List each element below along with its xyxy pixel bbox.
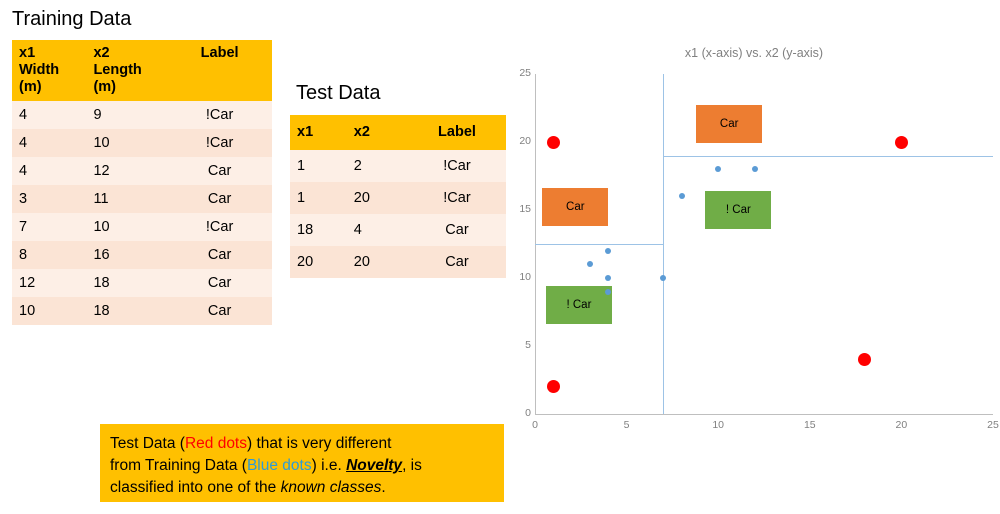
cell-label: !Car xyxy=(408,150,506,182)
test-data-table: x1 x2 Label 1 2 !Car 1 20 !Car 18 4 Car … xyxy=(290,115,506,278)
caption-callout: Test Data (Red dots) that is very differ… xyxy=(100,424,504,502)
cell-x2: 16 xyxy=(86,241,167,269)
training-data-point xyxy=(660,275,666,281)
cell-label: Car xyxy=(167,185,272,213)
training-data-point xyxy=(715,166,721,172)
y-tick-label: 15 xyxy=(513,203,531,215)
table-row: 3 11 Car xyxy=(12,185,272,213)
training-data-point xyxy=(752,166,758,172)
x-tick-label: 15 xyxy=(798,419,822,431)
chart-title: x1 (x-axis) vs. x2 (y-axis) xyxy=(510,46,998,60)
caption-line-3: classified into one of the known classes… xyxy=(110,477,494,499)
class-region-label: Car xyxy=(696,105,762,143)
table-row: 12 18 Car xyxy=(12,269,272,297)
column-header-label: Label xyxy=(167,40,272,101)
table-row: 1 20 !Car xyxy=(290,182,506,214)
column-header-x1: x1 Width (m) xyxy=(12,40,86,101)
cell-x1: 7 xyxy=(12,213,86,241)
caption-text-2c: , is xyxy=(402,457,422,474)
chart-plot-area: 05101520250510152025CarCar! Car! Car xyxy=(535,74,993,414)
class-region-label: Car xyxy=(542,188,608,226)
caption-text-1b: ) that is very different xyxy=(247,435,391,452)
class-region-label: ! Car xyxy=(546,286,612,324)
table-header-row: x1 x2 Label xyxy=(290,115,506,150)
y-tick-label: 10 xyxy=(513,271,531,283)
caption-text-2b: ) i.e. xyxy=(312,457,346,474)
training-data-point xyxy=(605,248,611,254)
y-tick-label: 0 xyxy=(513,407,531,419)
cell-x1: 8 xyxy=(12,241,86,269)
test-data-point xyxy=(547,380,560,393)
cell-x2: 2 xyxy=(347,150,408,182)
class-region-label: ! Car xyxy=(705,191,771,229)
cell-x1: 4 xyxy=(12,101,86,129)
table-row: 18 4 Car xyxy=(290,214,506,246)
x-tick-label: 10 xyxy=(706,419,730,431)
y-tick-label: 25 xyxy=(513,67,531,79)
test-data-point xyxy=(547,136,560,149)
cell-label: Car xyxy=(167,269,272,297)
column-header-x1-line1: x1 xyxy=(19,45,79,62)
column-header-label: Label xyxy=(408,115,506,150)
cell-x1: 20 xyxy=(290,246,347,278)
cell-x1: 12 xyxy=(12,269,86,297)
cell-label: Car xyxy=(167,157,272,185)
x-tick-label: 5 xyxy=(615,419,639,431)
cell-label: !Car xyxy=(167,213,272,241)
decision-boundary-line xyxy=(535,244,663,245)
caption-text-3a: classified into one of the xyxy=(110,479,281,496)
cell-x2: 12 xyxy=(86,157,167,185)
caption-line-1: Test Data (Red dots) that is very differ… xyxy=(110,433,494,455)
cell-x2: 9 xyxy=(86,101,167,129)
training-data-point xyxy=(679,193,685,199)
cell-x2: 10 xyxy=(86,213,167,241)
caption-line-2: from Training Data (Blue dots) i.e. Nove… xyxy=(110,455,494,477)
scatter-chart: x1 (x-axis) vs. x2 (y-axis) 051015202505… xyxy=(510,46,998,426)
table-row: 7 10 !Car xyxy=(12,213,272,241)
column-header-x2-line3: (m) xyxy=(93,79,160,96)
cell-x2: 11 xyxy=(86,185,167,213)
caption-text-3b: . xyxy=(381,479,385,496)
cell-x1: 18 xyxy=(290,214,347,246)
table-row: 10 18 Car xyxy=(12,297,272,325)
column-header-x2-line2: Length xyxy=(93,62,160,79)
caption-known-classes: known classes xyxy=(281,479,382,496)
cell-x2: 20 xyxy=(347,246,408,278)
table-row: 20 20 Car xyxy=(290,246,506,278)
cell-x1: 1 xyxy=(290,150,347,182)
cell-label: Car xyxy=(167,241,272,269)
table-row: 4 10 !Car xyxy=(12,129,272,157)
cell-x1: 4 xyxy=(12,129,86,157)
cell-x2: 18 xyxy=(86,297,167,325)
column-header-x2: x2 xyxy=(347,115,408,150)
cell-x2: 20 xyxy=(347,182,408,214)
caption-text-1a: Test Data ( xyxy=(110,435,185,452)
cell-x1: 1 xyxy=(290,182,347,214)
test-data-title: Test Data xyxy=(296,82,380,105)
training-data-title: Training Data xyxy=(12,8,131,31)
column-header-x1-line2: Width xyxy=(19,62,79,79)
decision-boundary-line xyxy=(663,156,993,157)
training-data-point xyxy=(605,275,611,281)
cell-label: Car xyxy=(408,246,506,278)
caption-text-2a: from Training Data ( xyxy=(110,457,247,474)
x-tick-label: 20 xyxy=(889,419,913,431)
test-data-point xyxy=(858,353,871,366)
cell-label: !Car xyxy=(167,101,272,129)
test-data-point xyxy=(895,136,908,149)
decision-boundary-line xyxy=(663,74,664,414)
table-row: 4 9 !Car xyxy=(12,101,272,129)
column-header-x2: x2 Length (m) xyxy=(86,40,167,101)
table-header-row: x1 Width (m) x2 Length (m) Label xyxy=(12,40,272,101)
cell-label: !Car xyxy=(408,182,506,214)
x-tick-label: 25 xyxy=(981,419,1000,431)
cell-label: Car xyxy=(167,297,272,325)
training-data-point xyxy=(605,289,611,295)
cell-x2: 10 xyxy=(86,129,167,157)
y-tick-label: 5 xyxy=(513,339,531,351)
caption-red-dots: Red dots xyxy=(185,435,247,452)
training-data-table: x1 Width (m) x2 Length (m) Label 4 9 !Ca… xyxy=(12,40,272,325)
x-tick-label: 0 xyxy=(523,419,547,431)
table-row: 1 2 !Car xyxy=(290,150,506,182)
x-axis-line xyxy=(535,414,993,415)
column-header-x1: x1 xyxy=(290,115,347,150)
caption-blue-dots: Blue dots xyxy=(247,457,312,474)
table-row: 8 16 Car xyxy=(12,241,272,269)
cell-label: !Car xyxy=(167,129,272,157)
cell-label: Car xyxy=(408,214,506,246)
y-tick-label: 20 xyxy=(513,135,531,147)
training-data-point xyxy=(587,261,593,267)
column-header-x1-line3: (m) xyxy=(19,79,79,96)
caption-novelty: Novelty xyxy=(346,457,402,474)
cell-x2: 18 xyxy=(86,269,167,297)
cell-x1: 10 xyxy=(12,297,86,325)
cell-x2: 4 xyxy=(347,214,408,246)
cell-x1: 4 xyxy=(12,157,86,185)
column-header-x2-line1: x2 xyxy=(93,45,160,62)
table-row: 4 12 Car xyxy=(12,157,272,185)
cell-x1: 3 xyxy=(12,185,86,213)
